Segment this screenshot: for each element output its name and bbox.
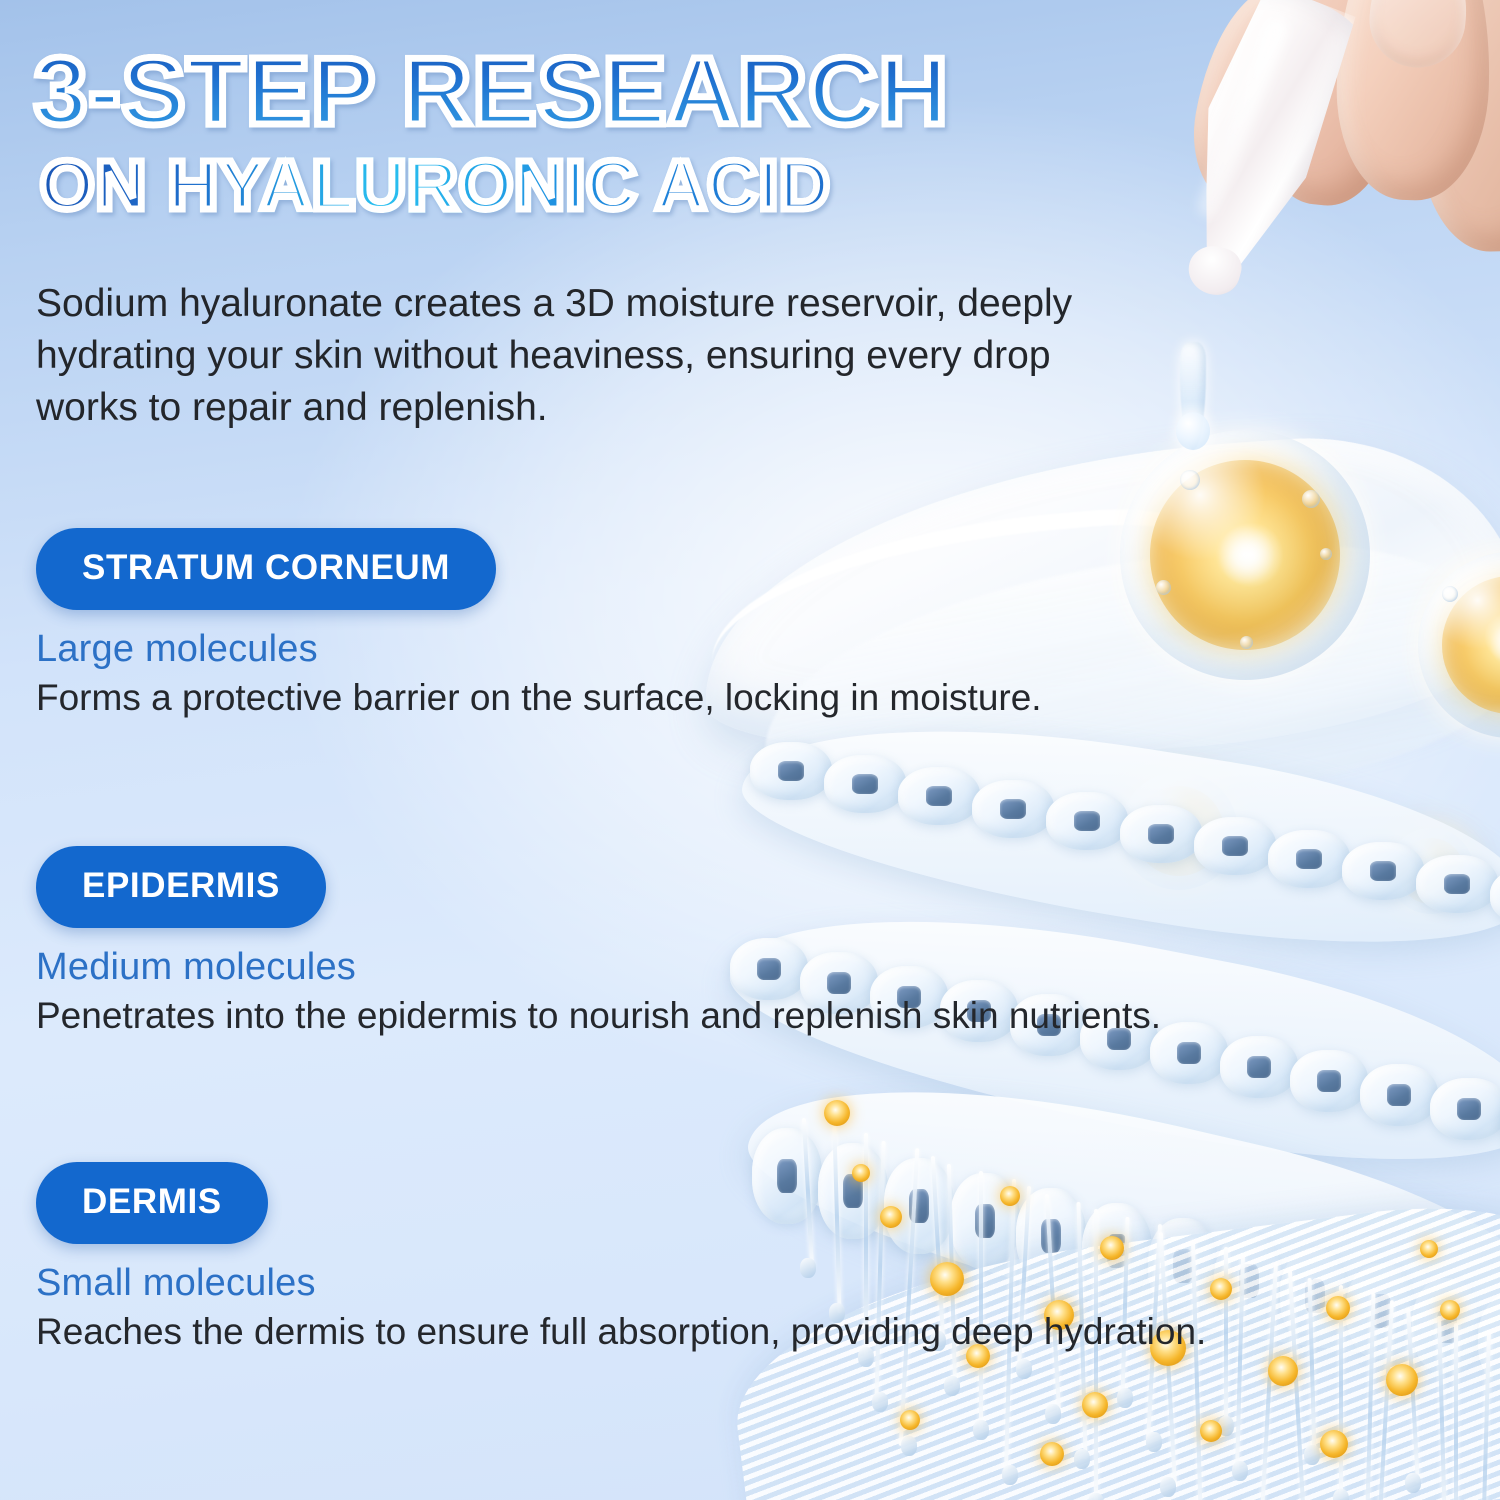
intro-paragraph: Sodium hyaluronate creates a 3D moisture…	[36, 278, 1136, 434]
molecule-size-label-medium: Medium molecules	[36, 946, 1161, 989]
badge-stratum-corneum: STRATUM CORNEUM	[36, 528, 496, 610]
layer-description-epidermis: Penetrates into the epidermis to nourish…	[36, 993, 1161, 1038]
layer-description-dermis: Reaches the dermis to ensure full absorp…	[36, 1309, 1206, 1354]
layer-section-dermis: DERMIS Small molecules Reaches the dermi…	[36, 1162, 1206, 1354]
molecule-size-label-small: Small molecules	[36, 1262, 1206, 1305]
badge-epidermis: EPIDERMIS	[36, 846, 326, 928]
title-line-1: 3-STEP RESEARCH	[34, 44, 949, 140]
badge-dermis: DERMIS	[36, 1162, 268, 1244]
molecule-size-label-large: Large molecules	[36, 628, 1042, 671]
layer-section-stratum-corneum: STRATUM CORNEUM Large molecules Forms a …	[36, 528, 1042, 720]
layer-description-stratum-corneum: Forms a protective barrier on the surfac…	[36, 675, 1042, 720]
page-title: 3-STEP RESEARCH ON HYALURONIC ACID	[34, 44, 949, 220]
layer-section-epidermis: EPIDERMIS Medium molecules Penetrates in…	[36, 846, 1161, 1038]
title-line-2: ON HYALURONIC ACID	[40, 150, 949, 220]
infographic-content: 3-STEP RESEARCH ON HYALURONIC ACID Sodiu…	[0, 0, 1500, 1500]
